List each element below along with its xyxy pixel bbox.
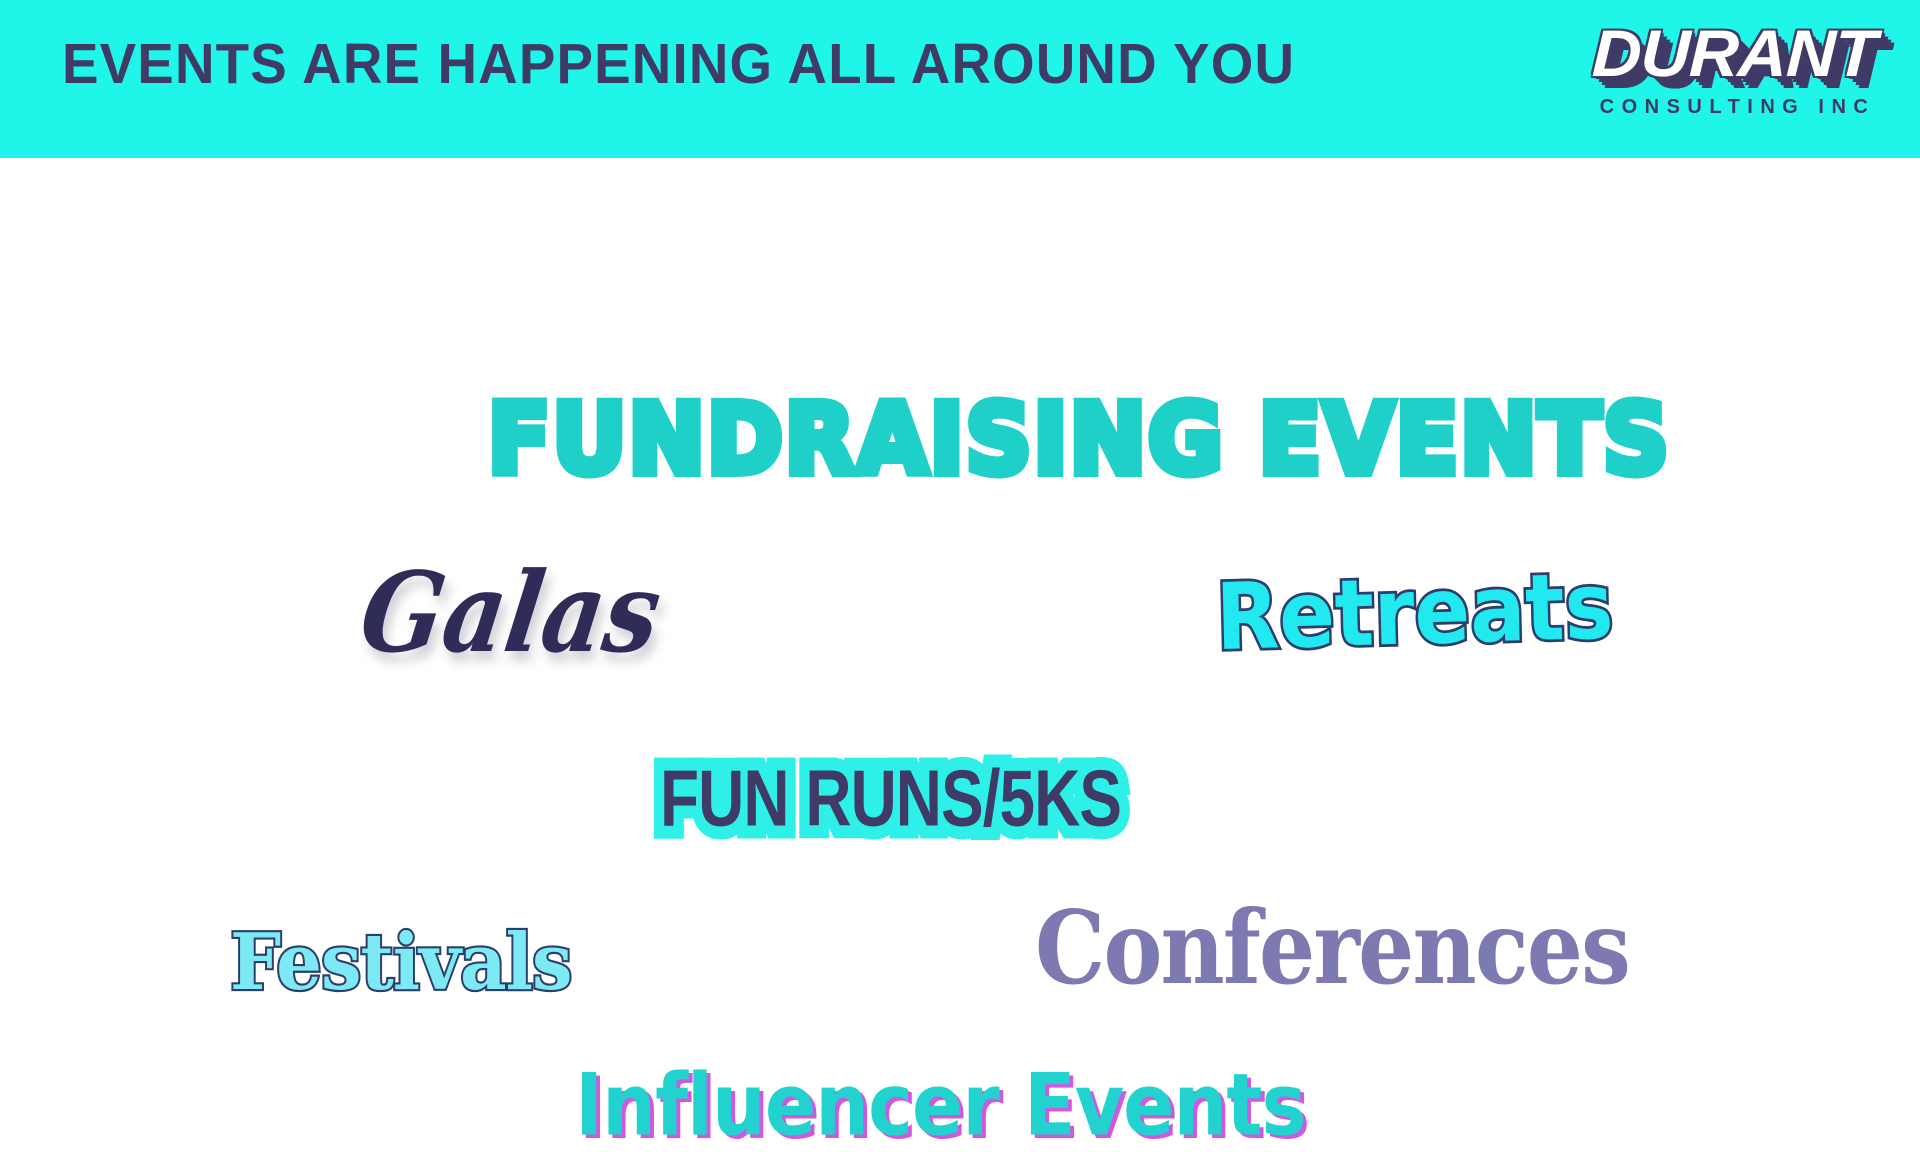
slide-heading-fundraising-events: FUNDRAISING EVENTS <box>488 392 1671 488</box>
event-type-fun-runs-5ks: FUN RUNS/5KS <box>660 758 1121 838</box>
durant-logo: DURANT CONSULTING INC <box>1584 14 1884 134</box>
banner-title: EVENTS ARE HAPPENING ALL AROUND YOU <box>62 36 1295 93</box>
logo-tagline: CONSULTING INC <box>1584 96 1884 119</box>
event-type-influencer-events: Influencer Events <box>575 1063 1306 1149</box>
header-banner: EVENTS ARE HAPPENING ALL AROUND YOU DURA… <box>0 0 1920 158</box>
event-type-retreats: Retreats <box>1215 561 1614 664</box>
event-type-galas: Galas <box>354 558 666 668</box>
event-type-conferences: Conferences <box>1035 898 1629 999</box>
logo-wordmark: DURANT <box>1577 14 1892 92</box>
event-type-festivals: Festivals <box>230 923 572 1001</box>
slide-canvas: FUNDRAISING EVENTS Galas Retreats FUN RU… <box>0 158 1920 1080</box>
